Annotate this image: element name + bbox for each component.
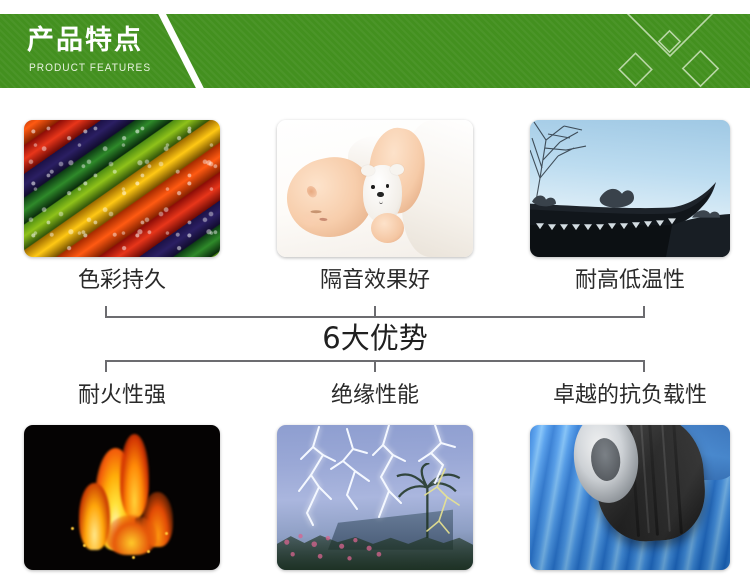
caption-fire-resistance: 耐火性强 [24,385,220,407]
bracket-top [105,306,645,318]
feature-image-insulation-performance [277,425,473,570]
section-header-banner: 产品特点 PRODUCT FEATURES [0,14,750,88]
caption-color-durability: 色彩持久 [24,270,220,292]
banner-diagonal-stripe [148,14,213,88]
caption-temperature-resistance: 耐高低温性 [530,270,730,292]
caption-insulation-performance: 绝缘性能 [277,385,473,407]
advantages-headline: 6大优势 [0,324,750,353]
caption-load-resistance: 卓越的抗负载性 [530,385,730,407]
product-features-page: 产品特点 PRODUCT FEATURES [0,0,750,581]
banner-diamond-decoration [610,14,750,88]
car-tire-on-blue-roof-photo [530,425,730,570]
feature-image-temperature-resistance [530,120,730,257]
water-droplets-overlay [24,120,220,257]
bracket-bottom [105,360,645,372]
caption-sound-insulation: 隔音效果好 [277,270,473,292]
lightning-storm-photo [277,425,473,570]
banner-title: 产品特点 [27,27,143,54]
chinese-roof-photo [530,120,730,257]
campfire-photo [24,425,220,570]
feature-image-fire-resistance [24,425,220,570]
banner-subtitle: PRODUCT FEATURES [29,63,151,74]
feature-image-load-resistance [530,425,730,570]
feature-image-color-durability [24,120,220,257]
feature-image-sound-insulation [277,120,473,257]
sleeping-baby-photo [277,120,473,257]
